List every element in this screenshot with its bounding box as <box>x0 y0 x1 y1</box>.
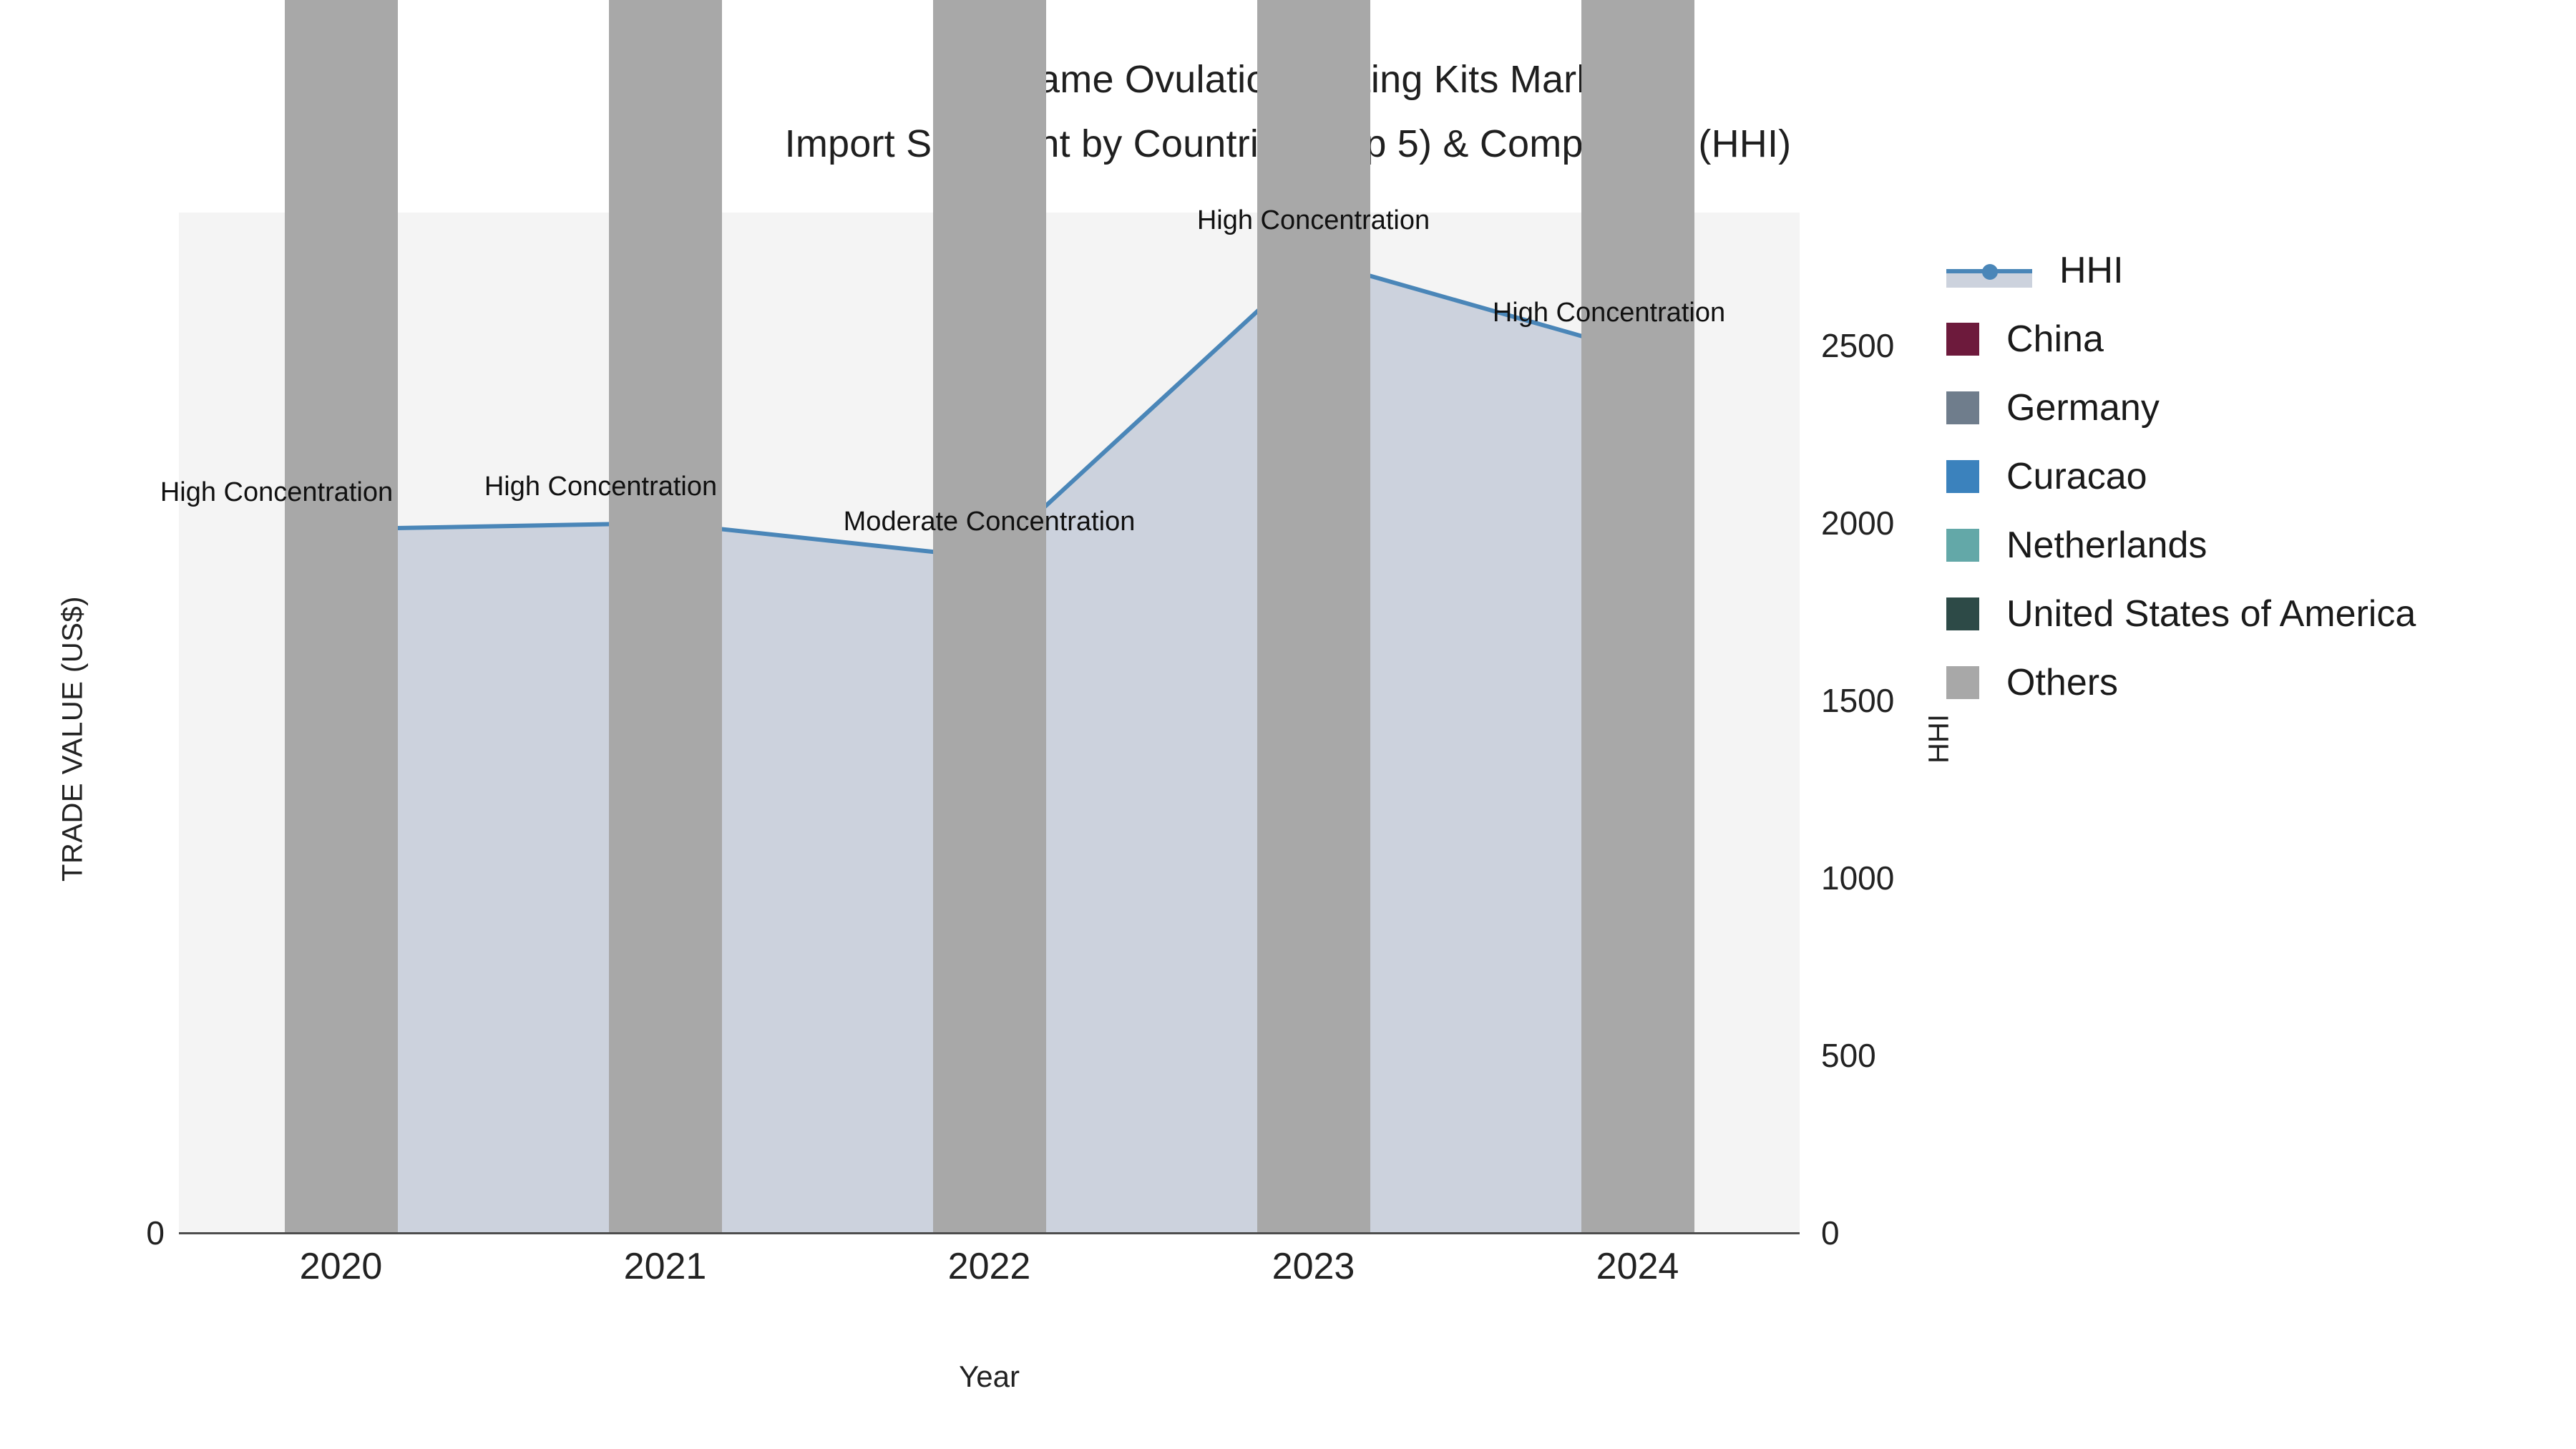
legend-color-swatch-icon <box>1946 666 1979 699</box>
legend-item-label: Germany <box>2006 389 2160 426</box>
legend-item-label: HHI <box>2059 252 2124 289</box>
y-tick-right: 500 <box>1821 1036 1876 1075</box>
chart-page: Suriname Ovulation Testing Kits Market I… <box>0 0 2576 1449</box>
hhi-line-swatch-icon <box>1946 254 2032 287</box>
legend-item-label: China <box>2006 321 2104 358</box>
bar-segment[interactable] <box>933 0 1046 1233</box>
legend-item-others[interactable]: Others <box>1946 648 2416 717</box>
concentration-annotation: High Concentration <box>1197 205 1430 236</box>
x-tick: 2021 <box>624 1245 707 1288</box>
y-tick-right: 1000 <box>1821 859 1894 897</box>
x-tick: 2022 <box>948 1245 1031 1288</box>
legend-item-hhi[interactable]: HHI <box>1946 236 2416 305</box>
legend-item-netherlands[interactable]: Netherlands <box>1946 511 2416 580</box>
legend-color-swatch-icon <box>1946 529 1979 562</box>
concentration-annotation: Moderate Concentration <box>844 507 1136 537</box>
bar-segment[interactable] <box>1257 0 1370 1233</box>
legend-item-label: Curacao <box>2006 458 2147 495</box>
y-axis-left-label: TRADE VALUE (US$) <box>57 489 89 990</box>
x-tick: 2023 <box>1272 1245 1355 1288</box>
x-axis-label: Year <box>179 1360 1800 1394</box>
concentration-annotation: High Concentration <box>484 472 717 502</box>
y-tick-left: 0 <box>7 1214 165 1252</box>
y-tick-right: 1500 <box>1821 681 1894 720</box>
legend-item-germany[interactable]: Germany <box>1946 374 2416 442</box>
legend-color-swatch-icon <box>1946 597 1979 630</box>
concentration-annotation: High Concentration <box>1493 298 1725 328</box>
x-axis-line <box>179 1232 1800 1234</box>
legend-item-china[interactable]: China <box>1946 305 2416 374</box>
bar-segment[interactable] <box>1581 0 1694 1233</box>
y-tick-right: 2000 <box>1821 504 1894 542</box>
legend-item-curacao[interactable]: Curacao <box>1946 442 2416 511</box>
bar-segment[interactable] <box>285 0 398 1233</box>
legend-item-united-states-of-america[interactable]: United States of America <box>1946 580 2416 648</box>
legend-color-swatch-icon <box>1946 460 1979 493</box>
y-tick-right: 0 <box>1821 1214 1840 1252</box>
legend: HHIChinaGermanyCuracaoNetherlandsUnited … <box>1946 236 2416 717</box>
y-tick-right: 2500 <box>1821 326 1894 365</box>
concentration-annotation: High Concentration <box>160 477 393 508</box>
x-tick: 2024 <box>1596 1245 1679 1288</box>
legend-color-swatch-icon <box>1946 323 1979 356</box>
x-tick: 2020 <box>300 1245 383 1288</box>
legend-item-label: United States of America <box>2006 595 2416 633</box>
legend-color-swatch-icon <box>1946 391 1979 424</box>
legend-item-label: Netherlands <box>2006 527 2207 564</box>
legend-item-label: Others <box>2006 664 2118 701</box>
bar-segment[interactable] <box>609 0 722 1233</box>
